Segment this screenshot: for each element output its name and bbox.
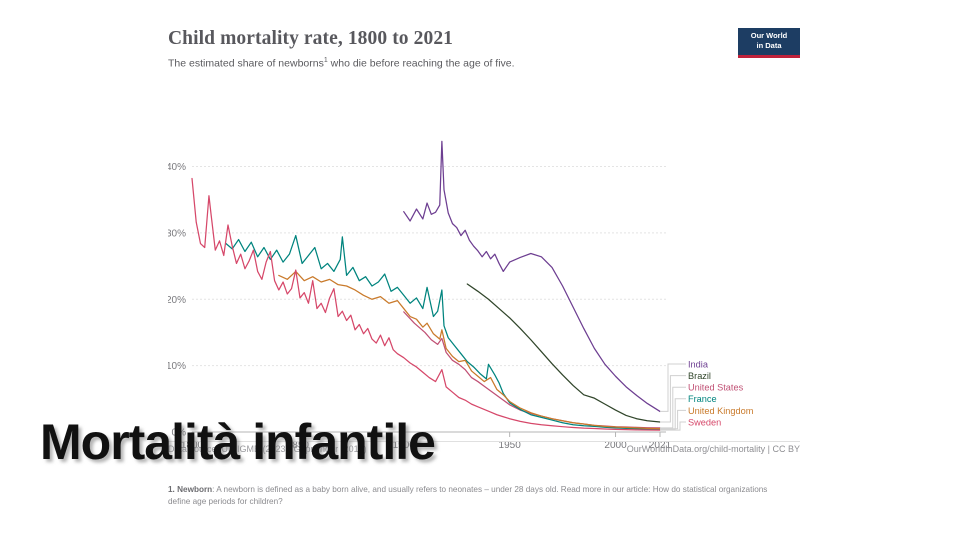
legend-item-united-states[interactable]: United States [688,383,744,393]
chart-svg: 0%10%20%30%40%180018501900195020002021In… [168,88,800,460]
y-axis-tick-label: 40% [168,162,186,173]
legend-item-sweden[interactable]: Sweden [688,417,721,427]
owid-logo-line2: in Data [738,41,800,51]
slide-overlay-title: Mortalità infantile [40,414,435,470]
owid-chart-card: Our World in Data Child mortality rate, … [168,28,800,468]
y-axis-tick-label: 30% [168,228,186,239]
footnote: 1. Newborn: A newborn is defined as a ba… [168,484,768,507]
y-axis-tick-label: 10% [168,361,186,372]
legend-item-united-kingdom[interactable]: United Kingdom [688,406,754,416]
plot-area: 0%10%20%30%40%180018501900195020002021In… [168,88,800,460]
chart-subtitle-after: who die before reaching the age of five. [328,58,515,70]
footnote-label: 1. Newborn [168,485,212,494]
y-axis-tick-label: 20% [168,295,186,306]
chart-subtitle: The estimated share of newborns1 who die… [168,54,800,71]
owid-url-link[interactable]: OurWorldInData.org/child-mortality | CC … [627,444,800,454]
slide-canvas: Our World in Data Child mortality rate, … [0,0,960,540]
legend-item-brazil[interactable]: Brazil [688,371,711,381]
legend-item-france[interactable]: France [688,394,717,404]
chart-subtitle-before: The estimated share of newborns [168,58,324,70]
owid-logo: Our World in Data [738,28,800,58]
series-line-sweden [192,178,660,430]
series-line-brazil [467,284,660,422]
chart-title: Child mortality rate, 1800 to 2021 [168,28,800,50]
legend-item-india[interactable]: India [688,359,709,369]
footnote-text: : A newborn is defined as a baby born al… [168,485,767,506]
series-line-united-kingdom [279,271,660,428]
owid-logo-line1: Our World [738,31,800,41]
